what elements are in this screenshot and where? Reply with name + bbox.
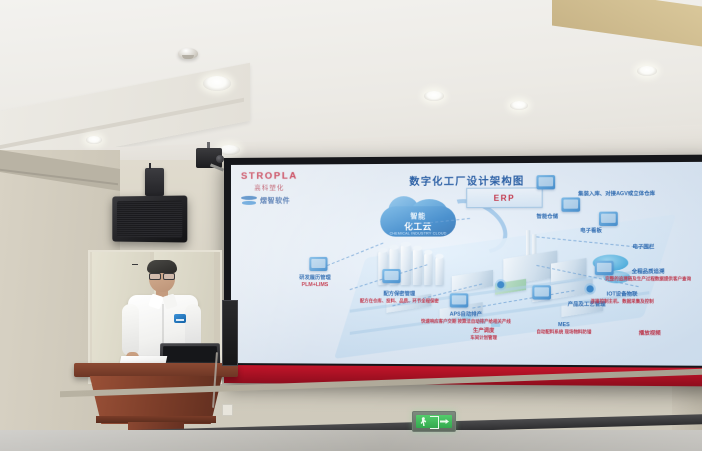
downlight-4 — [510, 101, 528, 110]
node-icon-inbound — [561, 197, 580, 211]
projection-screen-surface: STROPLA 高科塑化 熠智软件 数字化工厂设计架构图 智能 化工云 — [231, 162, 702, 366]
power-outlet[interactable] — [222, 404, 233, 416]
projector-lens-icon — [216, 155, 224, 163]
downlight-1 — [203, 76, 231, 91]
wall-speaker — [112, 195, 187, 242]
company-badge-icon — [174, 314, 186, 323]
plant-tank — [424, 253, 432, 285]
plant-tank — [401, 245, 411, 285]
node-dot-schedule — [497, 281, 504, 288]
plant-tank — [435, 257, 443, 285]
emergency-exit-sign — [412, 411, 456, 432]
node-icon-formula — [382, 269, 400, 283]
brand-logo-latin: STROPLA — [241, 171, 298, 182]
label-quality-trace: 全程品质追溯 完整的追溯链及生产过程数据提供客户查询 — [605, 269, 691, 281]
smoke-detector-icon — [178, 48, 198, 59]
downlight-5 — [637, 66, 657, 76]
label-e-kanban: 电子看板 — [580, 228, 602, 235]
label-production-schedule: 生产调度 车间计划管理 — [470, 328, 497, 340]
wall-control-box — [145, 168, 164, 196]
presenter-left-arm — [122, 304, 139, 356]
label-e-fence: 电子围栏 — [632, 244, 654, 251]
node-icon-rd — [309, 257, 327, 271]
partner-logo-row: 熠智软件 — [241, 195, 298, 206]
label-formula-secrecy: 配方保密管理 配方在仓库、投料、品质、环节全程保密 — [360, 291, 439, 303]
label-iot: IOT设备物联 连接控制主机、数据采集及控制 — [591, 291, 654, 303]
presentation-room-scene: STROPLA 高科塑化 熠智软件 数字化工厂设计架构图 智能 化工云 — [0, 0, 702, 451]
floor-reflection — [0, 430, 702, 451]
downlight-3 — [424, 91, 444, 101]
node-icon-fence — [599, 212, 618, 226]
presenter-hair — [147, 260, 177, 273]
speaker-grille — [117, 201, 182, 238]
laptop[interactable] — [160, 343, 220, 365]
label-aps: APS自动排产 快速响应客户交期 按算法自动排产给相关产线 — [421, 311, 511, 323]
laptop-screen — [163, 346, 217, 362]
node-icon-aps — [450, 293, 469, 307]
label-smart-warehouse: 智能仓储 — [536, 214, 558, 221]
exit-door-icon — [430, 416, 439, 429]
slide-title: 数字化工厂设计架构图 — [409, 172, 524, 188]
slide-logo-block: STROPLA 高科塑化 熠智软件 — [241, 171, 298, 206]
erp-box: ERP — [466, 187, 542, 208]
node-icon-mes — [532, 285, 551, 299]
label-mes: MES 自动配料系统 现场物料防错 — [536, 322, 591, 334]
erp-label: ERP — [494, 193, 515, 202]
wall-mounted-panel — [222, 300, 238, 366]
brand-logo-cn: 高科塑化 — [241, 182, 298, 192]
label-rd-history: 研发履历管理 PLM+LIMS — [299, 275, 330, 288]
slide-content: STROPLA 高科塑化 熠智软件 数字化工厂设计架构图 智能 化工云 — [231, 162, 702, 366]
partner-logo-mark-icon — [241, 195, 257, 206]
partner-logo-label: 熠智软件 — [260, 195, 290, 205]
label-inbound-agv: 集装入库、对接AGV或立体仓库 — [578, 191, 655, 198]
glasses-bridge — [132, 264, 138, 265]
label-play-video[interactable]: 播放视频 — [639, 331, 661, 338]
projection-screen: STROPLA 高科塑化 熠智软件 数字化工厂设计架构图 智能 化工云 — [224, 155, 702, 387]
node-icon-agv — [536, 175, 555, 189]
downlight-6 — [86, 136, 102, 144]
glasses-icon — [149, 273, 175, 278]
